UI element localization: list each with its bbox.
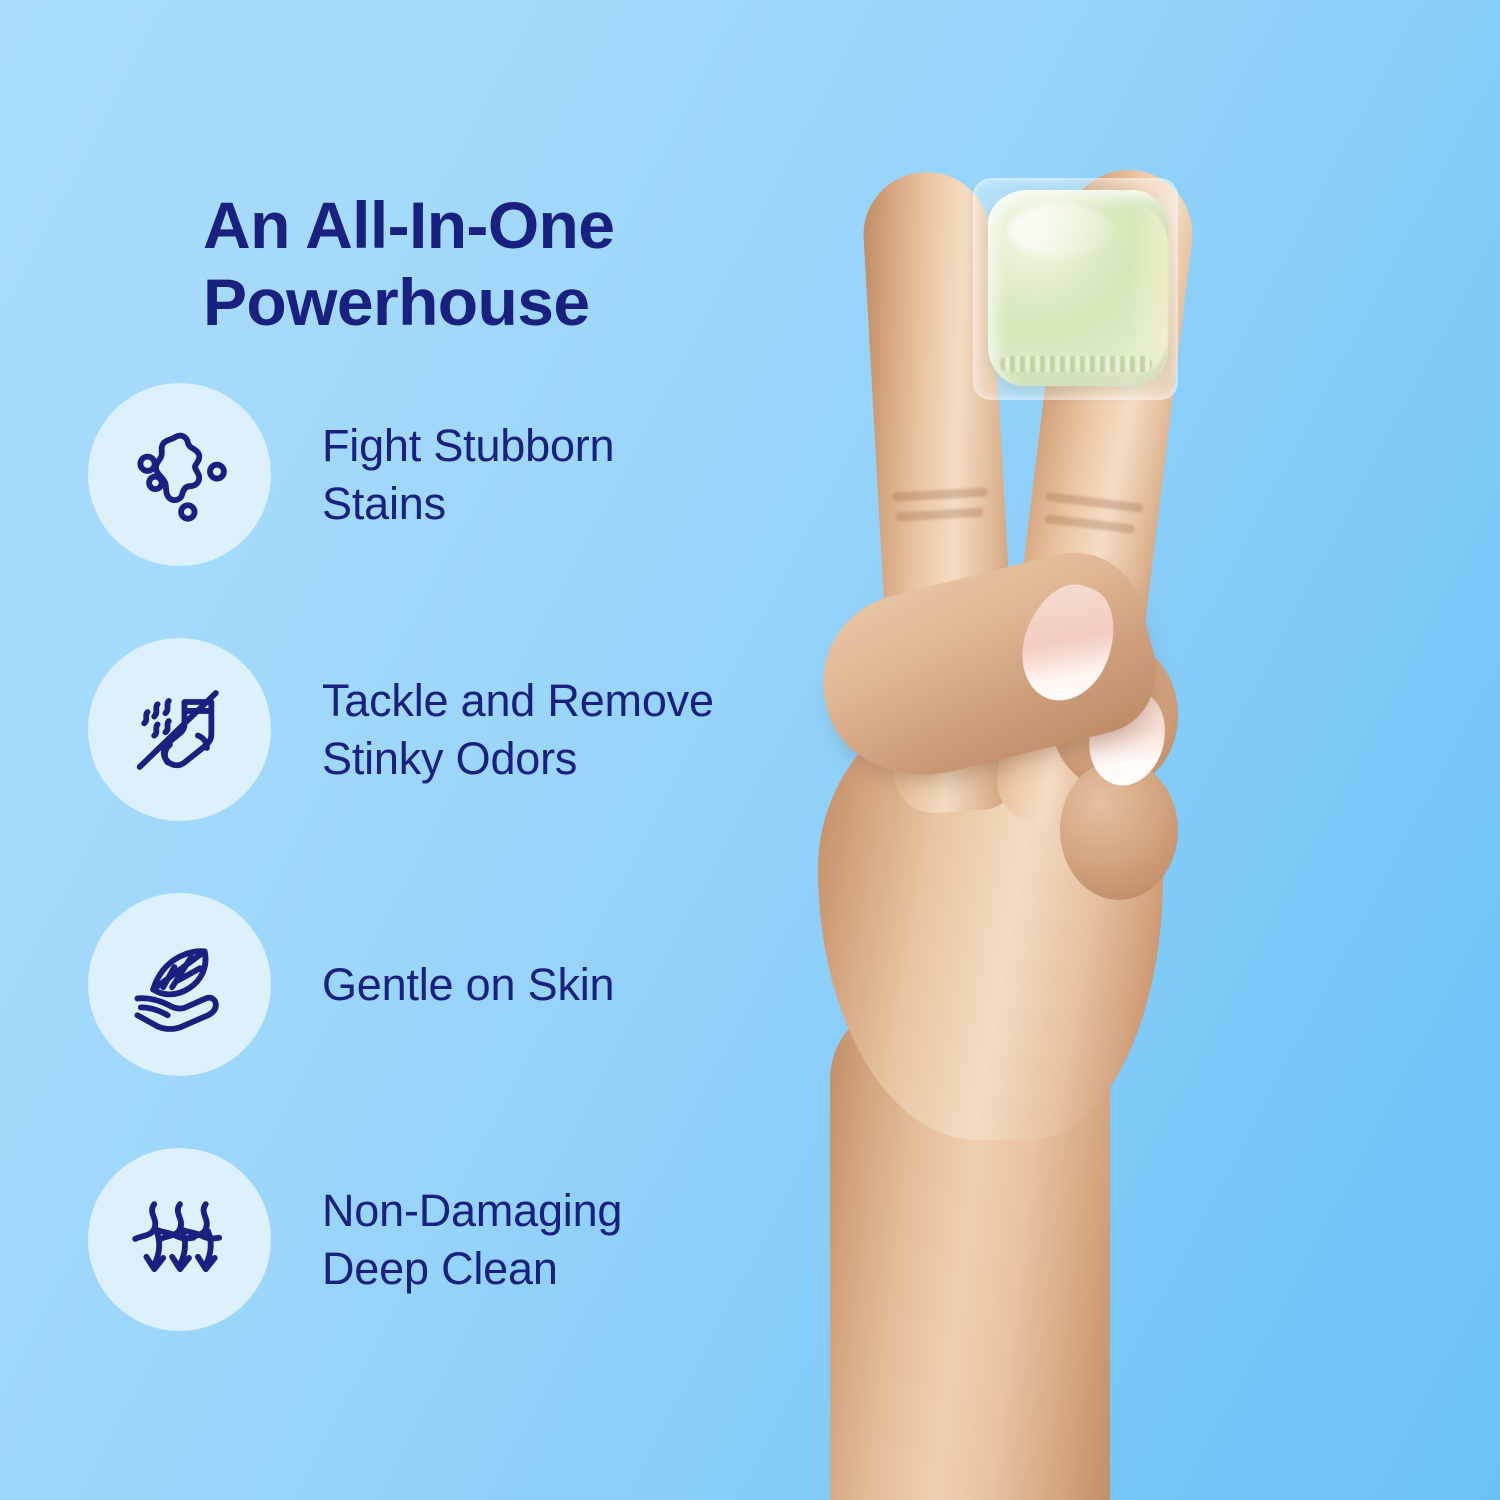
leaf-in-hand-icon [88, 893, 271, 1076]
page-title: An All-In-One Powerhouse [203, 187, 843, 340]
pod-seam [1000, 356, 1152, 372]
stain-splatter-icon [88, 383, 271, 566]
fiber-deep-clean-arrows-icon [88, 1148, 271, 1331]
list-item-label: Gentle on Skin [322, 893, 614, 1076]
list-item: Non-Damaging Deep Clean [88, 1148, 868, 1331]
list-item: Tackle and Remove Stinky Odors [88, 638, 868, 821]
list-item: Fight Stubborn Stains [88, 383, 868, 566]
feature-list: Fight Stubborn Stains [88, 383, 868, 1331]
pod-edge-highlight [1134, 206, 1168, 374]
list-item-label: Fight Stubborn Stains [322, 383, 614, 566]
list-item-label: Tackle and Remove Stinky Odors [322, 638, 714, 821]
list-item: Gentle on Skin [88, 893, 868, 1076]
product-feature-graphic: An All-In-One Powerhouse Fight Stubborn … [0, 0, 1500, 1500]
no-odor-sock-icon [88, 638, 271, 821]
pod-gloss-highlight [1008, 204, 1112, 258]
hand-holding-pod-image [760, 0, 1500, 1500]
list-item-label: Non-Damaging Deep Clean [322, 1148, 622, 1331]
